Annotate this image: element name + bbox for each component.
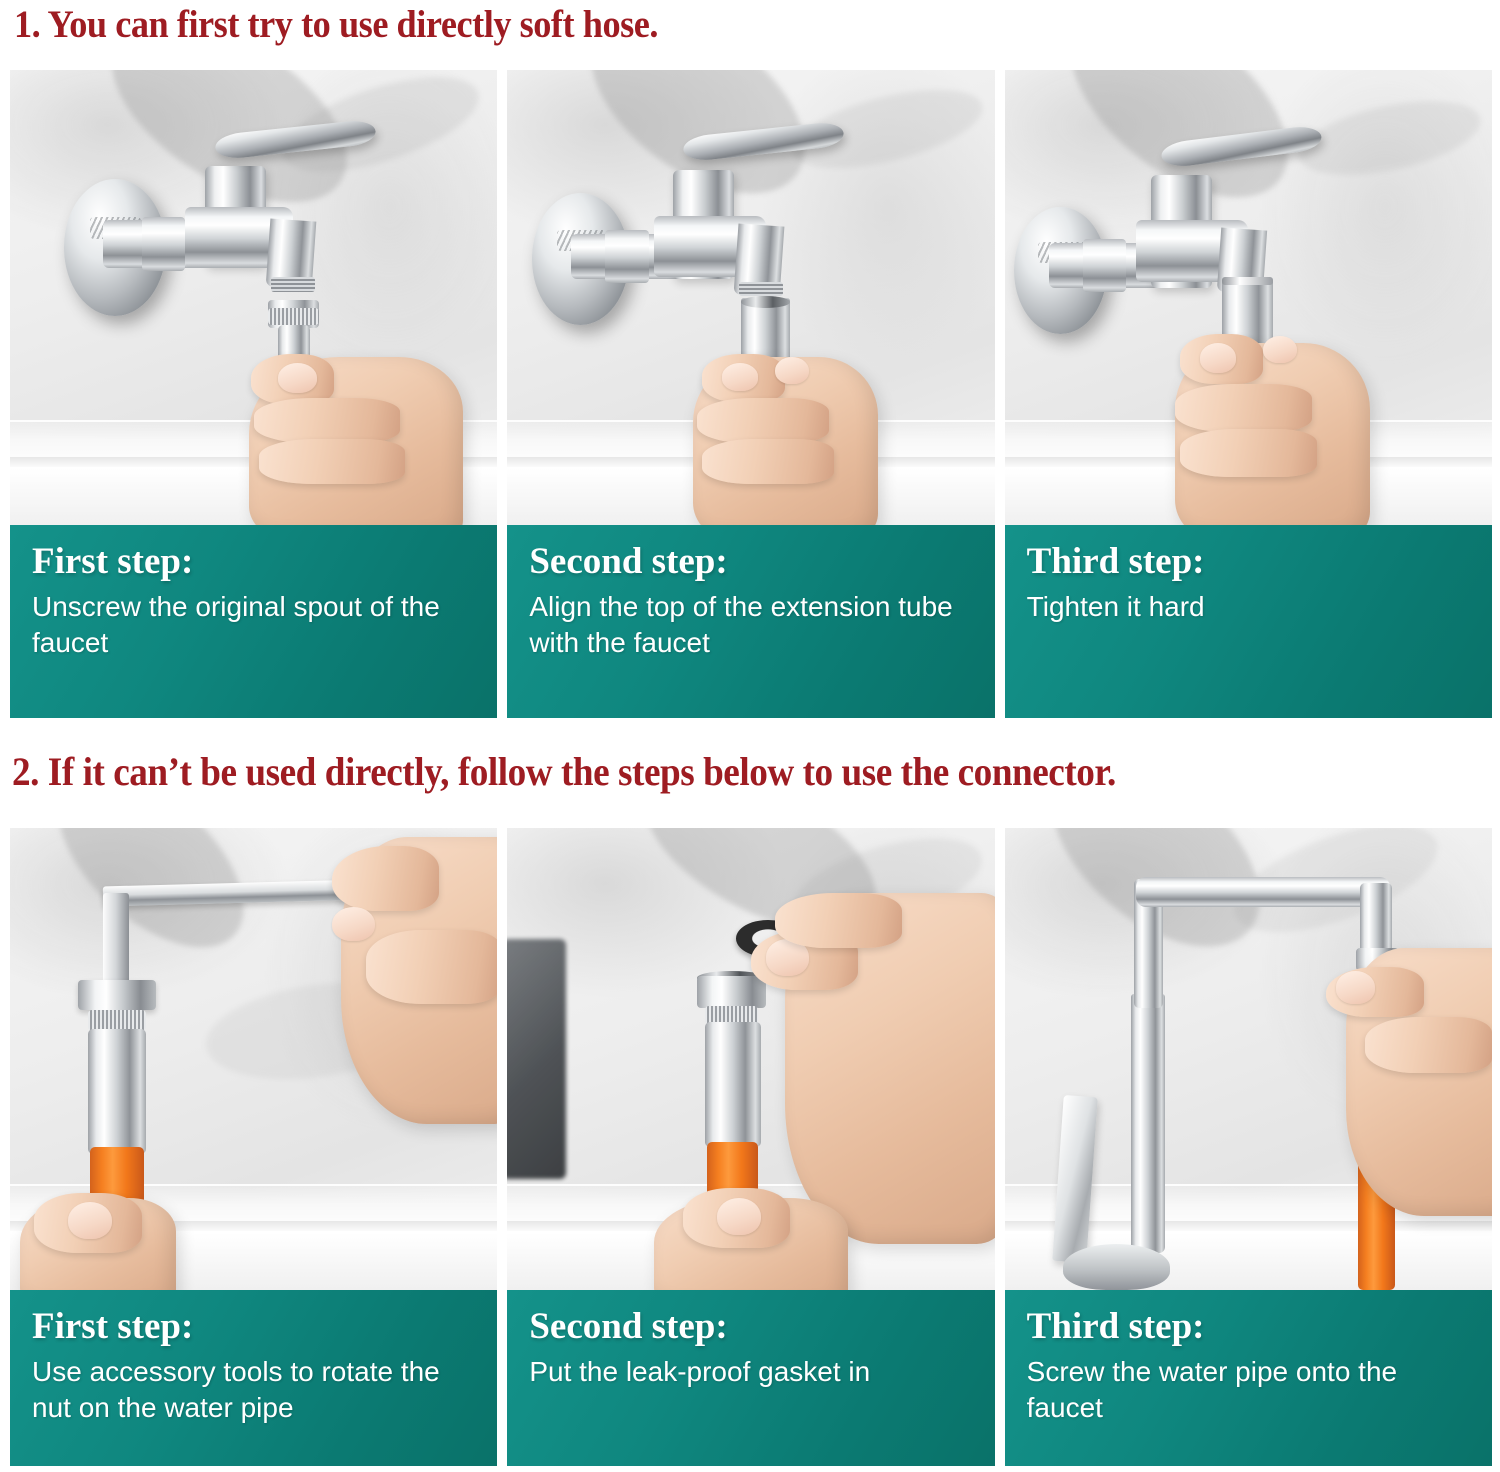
connector-body <box>705 1022 761 1147</box>
step-title: Second step: <box>529 1308 972 1347</box>
step-caption: Second step: Align the top of the extens… <box>507 525 994 718</box>
step-body: Align the top of the extension tube with… <box>529 589 972 662</box>
step-photo-tighten-it-hard <box>1005 70 1492 525</box>
faucet-base <box>1063 1244 1170 1290</box>
fingernail <box>1336 971 1375 1003</box>
faucet-inlet-collar <box>142 217 186 272</box>
ring-finger <box>702 439 834 485</box>
step-title: Third step: <box>1027 1308 1470 1347</box>
step-title: Third step: <box>1027 543 1470 582</box>
connector-nut <box>78 980 156 1010</box>
step-panel: Third step: Tighten it hard <box>1005 70 1492 718</box>
thumb <box>775 893 902 948</box>
step-panel: Second step: Align the top of the extens… <box>507 70 994 718</box>
step-panel: First step: Use accessory tools to rotat… <box>10 828 497 1466</box>
fingernail <box>722 363 759 390</box>
step-caption: Second step: Put the leak-proof gasket i… <box>507 1290 994 1466</box>
ring-finger <box>1180 429 1316 477</box>
step-body: Tighten it hard <box>1027 589 1470 625</box>
thumbnail <box>68 1202 112 1239</box>
faucet-spout-threads <box>739 282 783 297</box>
step-body: Put the leak-proof gasket in <box>529 1354 972 1390</box>
step-title: First step: <box>32 1308 475 1347</box>
fingernail <box>332 907 376 942</box>
middle-finger <box>1365 1017 1492 1072</box>
instruction-sheet: 1. You can first try to use directly sof… <box>0 0 1500 1472</box>
step-photo-screw-pipe-onto-faucet <box>1005 828 1492 1290</box>
ring-finger <box>259 439 405 485</box>
extension-tube-opening <box>741 296 790 308</box>
step-caption: Third step: Screw the water pipe onto th… <box>1005 1290 1492 1466</box>
index-finger <box>332 846 439 911</box>
step-photo-unscrew-spout <box>10 70 497 525</box>
thumbnail <box>1263 336 1297 363</box>
tube-joint-ring <box>1222 277 1273 284</box>
fingernail <box>1200 343 1237 373</box>
section-2-heading: 2. If it can’t be used directly, follow … <box>12 748 1116 795</box>
connector-body <box>88 1029 146 1154</box>
step-panel: First step: Unscrew the original spout o… <box>10 70 497 718</box>
faucet-arch-top <box>1136 877 1389 907</box>
step-body: Use accessory tools to rotate the nut on… <box>32 1354 475 1427</box>
thumbnail <box>717 1198 761 1235</box>
step-body: Unscrew the original spout of the faucet <box>32 589 475 662</box>
middle-finger <box>366 930 498 1004</box>
kitchen-faucet-column <box>1131 994 1165 1253</box>
faucet-inlet-collar <box>605 230 649 283</box>
step-title: Second step: <box>529 543 972 582</box>
section-1-panel-row: First step: Unscrew the original spout o… <box>10 70 1492 718</box>
step-title: First step: <box>32 543 475 582</box>
middle-finger <box>1175 384 1311 432</box>
step-caption: First step: Use accessory tools to rotat… <box>10 1290 497 1466</box>
background-appliance <box>507 939 565 1179</box>
thumbnail <box>775 357 809 384</box>
step-panel: Third step: Screw the water pipe onto th… <box>1005 828 1492 1466</box>
section-1-heading: 1. You can first try to use directly sof… <box>14 2 658 47</box>
connector-collar <box>697 976 765 1008</box>
step-photo-insert-gasket <box>507 828 994 1290</box>
fingernail <box>278 363 317 393</box>
step-caption: First step: Unscrew the original spout o… <box>10 525 497 718</box>
adapter-knurled-ring <box>268 308 319 324</box>
middle-finger <box>254 398 400 444</box>
faucet-spout-threads <box>271 277 315 292</box>
section-2-panel-row: First step: Use accessory tools to rotat… <box>10 828 1492 1466</box>
step-caption: Third step: Tighten it hard <box>1005 525 1492 718</box>
step-panel: Second step: Put the leak-proof gasket i… <box>507 828 994 1466</box>
middle-finger <box>697 398 829 444</box>
faucet-inlet-collar <box>1083 239 1127 292</box>
step-photo-align-extension-tube <box>507 70 994 525</box>
step-body: Screw the water pipe onto the faucet <box>1027 1354 1470 1427</box>
step-photo-rotate-nut-with-tool <box>10 828 497 1290</box>
